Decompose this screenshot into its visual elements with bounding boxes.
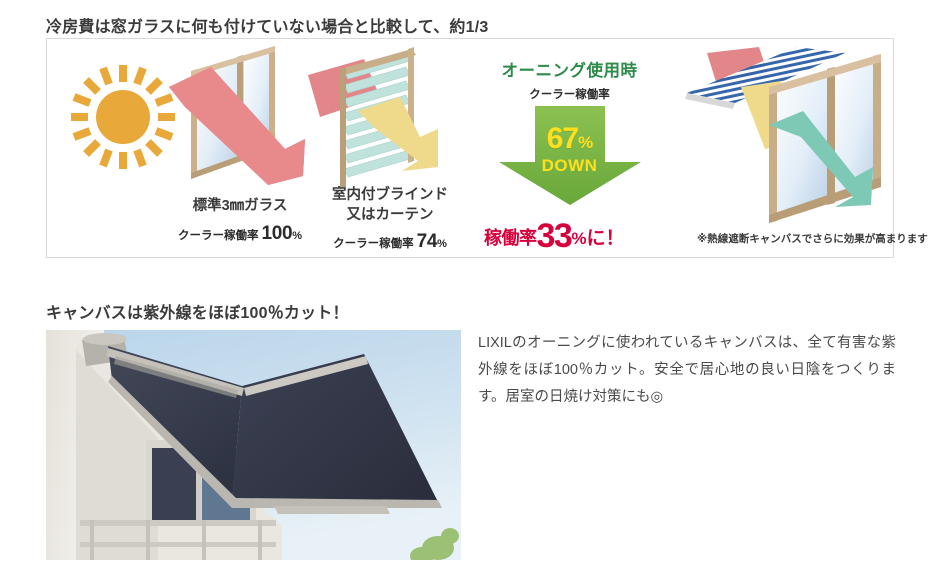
uv-description-text: LIXILのオーニングに使われているキャンバスは、全て有害な紫外線をほぼ100％… <box>478 330 896 410</box>
rate-label: クーラー稼働率 <box>178 230 259 242</box>
down-arrow-graphic: 67% DOWN <box>472 106 667 206</box>
panel-footnote: ※熱線遮断キャンバスでさらに効果が高まります <box>697 231 928 246</box>
rate-unit: % <box>292 230 302 242</box>
result-label: 稼働率 <box>484 228 537 248</box>
illustration-awning <box>677 45 892 230</box>
caption-rate: クーラー稼働率100% <box>155 223 325 245</box>
illustration-indoor-blind <box>302 45 462 195</box>
cooling-comparison-panel: オーニング使用時 クーラー稼働率 67% DOWN <box>46 38 894 258</box>
rate-unit: % <box>437 238 447 250</box>
rate-value: 100 <box>261 223 292 244</box>
illustration-plain-glass <box>167 45 317 195</box>
callout-subtitle: クーラー稼働率 <box>472 86 667 102</box>
caption-indoor-blind: 室内付ブラインド 又はカーテン クーラー稼働率74% <box>305 186 475 253</box>
result-suffix: に！ <box>586 228 624 249</box>
rate-value: 74 <box>417 231 438 252</box>
page-title-uv: キャンバスは紫外線をほぼ100％カット！ <box>46 299 349 323</box>
result-rate-line: 稼働率33%に！ <box>484 217 624 256</box>
page-title-cooling: 冷房費は窓ガラスに何も付けていない場合と比較して、約1/3 <box>46 13 488 37</box>
callout-title: オーニング使用時 <box>472 57 667 81</box>
caption-rate: クーラー稼働率74% <box>305 231 475 253</box>
awning-callout: オーニング使用時 クーラー稼働率 67% DOWN <box>472 57 667 206</box>
caption-plain-glass: 標準3㎜ガラス クーラー稼働率100% <box>155 197 325 245</box>
caption-title: 室内付ブラインド 又はカーテン <box>305 186 475 225</box>
result-value: 33 <box>537 217 572 255</box>
rate-label: クーラー稼働率 <box>333 238 414 250</box>
result-percent-sign: % <box>571 229 586 248</box>
awning-photo <box>46 330 461 560</box>
caption-title: 標準3㎜ガラス <box>155 197 325 217</box>
sun-icon <box>63 57 183 177</box>
